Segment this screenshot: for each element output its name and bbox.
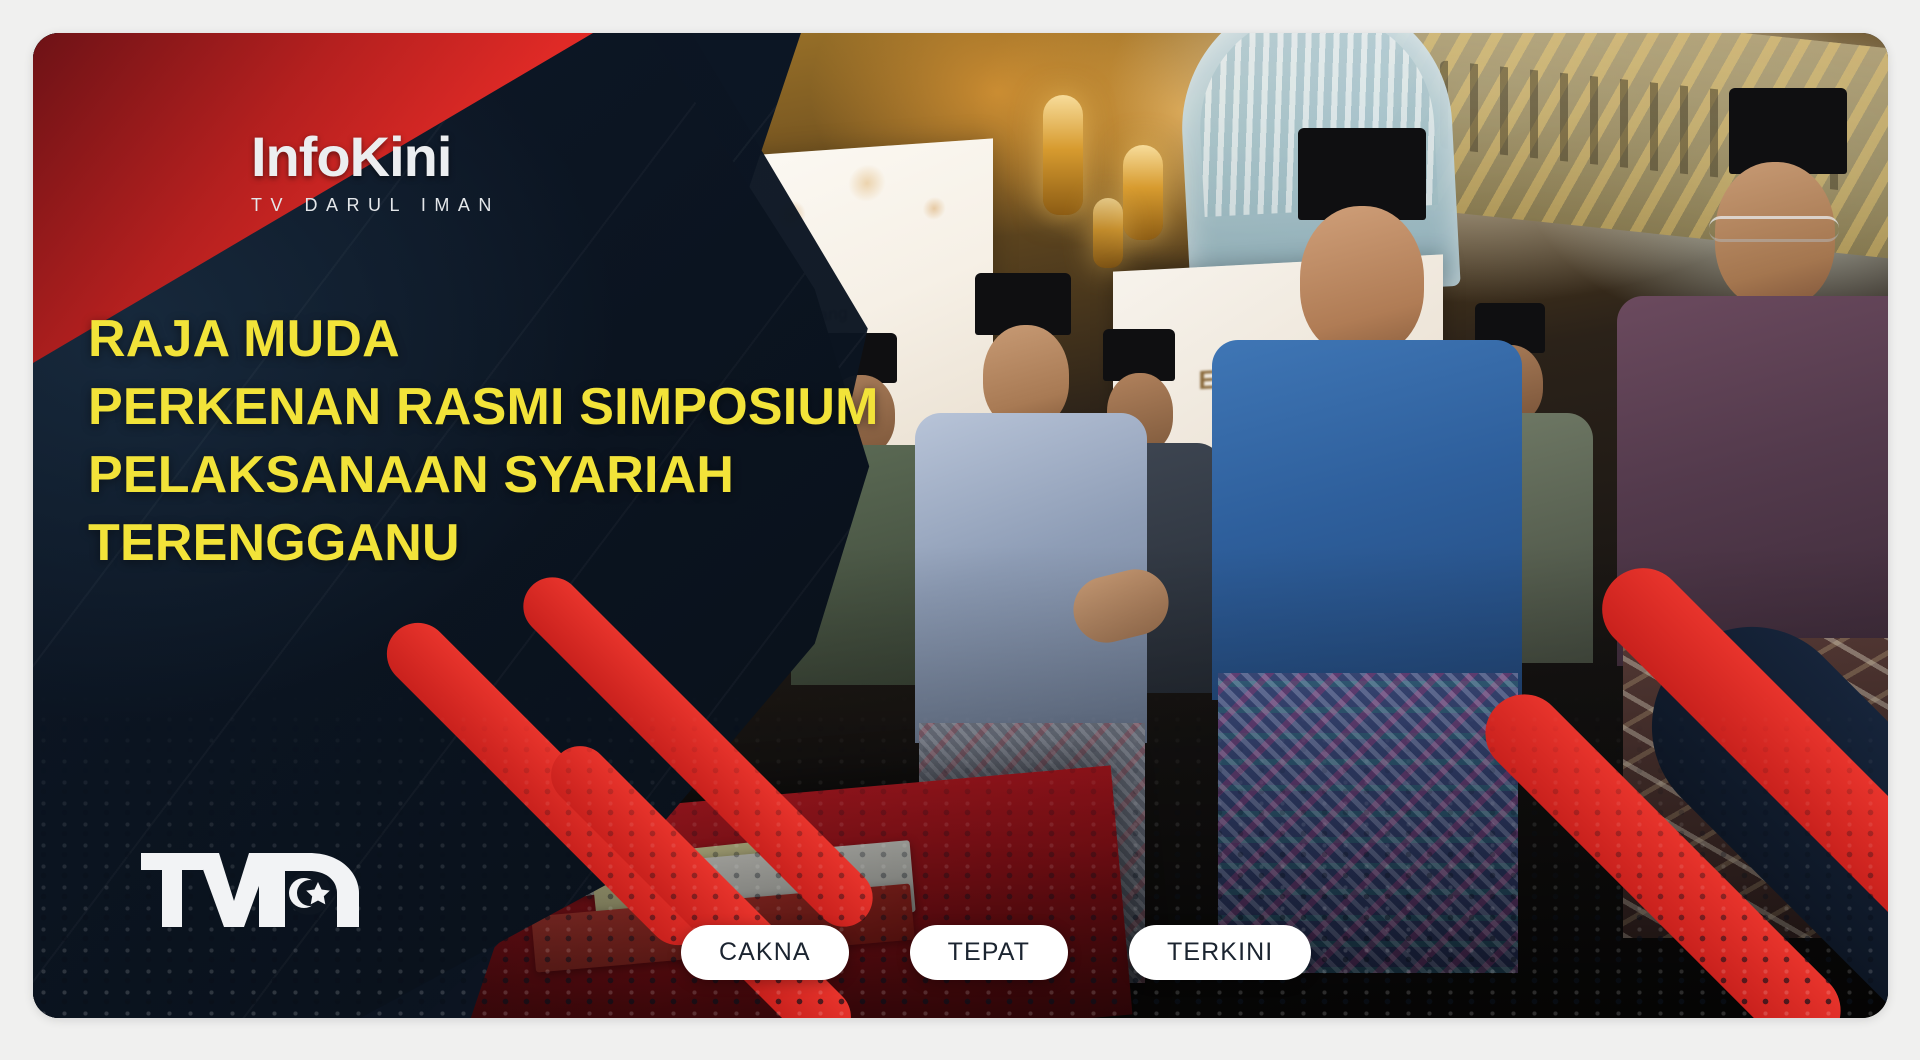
headline-line-3: PELAKSANAAN SYARIAH	[88, 441, 788, 509]
headline-line-2: PERKENAN RASMI SIMPOSIUM	[88, 373, 788, 441]
brand-name: InfoKini	[251, 129, 671, 185]
headline-line-4: TERENGGANU	[88, 509, 788, 577]
crescent-star-icon	[287, 871, 331, 915]
tag-pill-group: CAKNA TEPAT TERKINI	[681, 925, 1311, 980]
brand-subtitle: TV DARUL IMAN	[251, 195, 671, 216]
tag-pill-cakna[interactable]: CAKNA	[681, 925, 849, 980]
tag-pill-tepat[interactable]: TEPAT	[910, 925, 1068, 980]
brand-block: InfoKini TV DARUL IMAN	[251, 129, 671, 216]
headline-line-1: RAJA MUDA	[88, 305, 788, 373]
page-root: Undang-Undang Hukum Syarak T ESTARI ITQ …	[0, 0, 1920, 1060]
news-graphic-card: Undang-Undang Hukum Syarak T ESTARI ITQ …	[33, 33, 1888, 1018]
headline: RAJA MUDA PERKENAN RASMI SIMPOSIUM PELAK…	[88, 305, 788, 577]
tag-pill-terkini[interactable]: TERKINI	[1129, 925, 1311, 980]
tvdi-logo-svg	[141, 853, 371, 935]
tvdi-logo	[141, 853, 371, 935]
